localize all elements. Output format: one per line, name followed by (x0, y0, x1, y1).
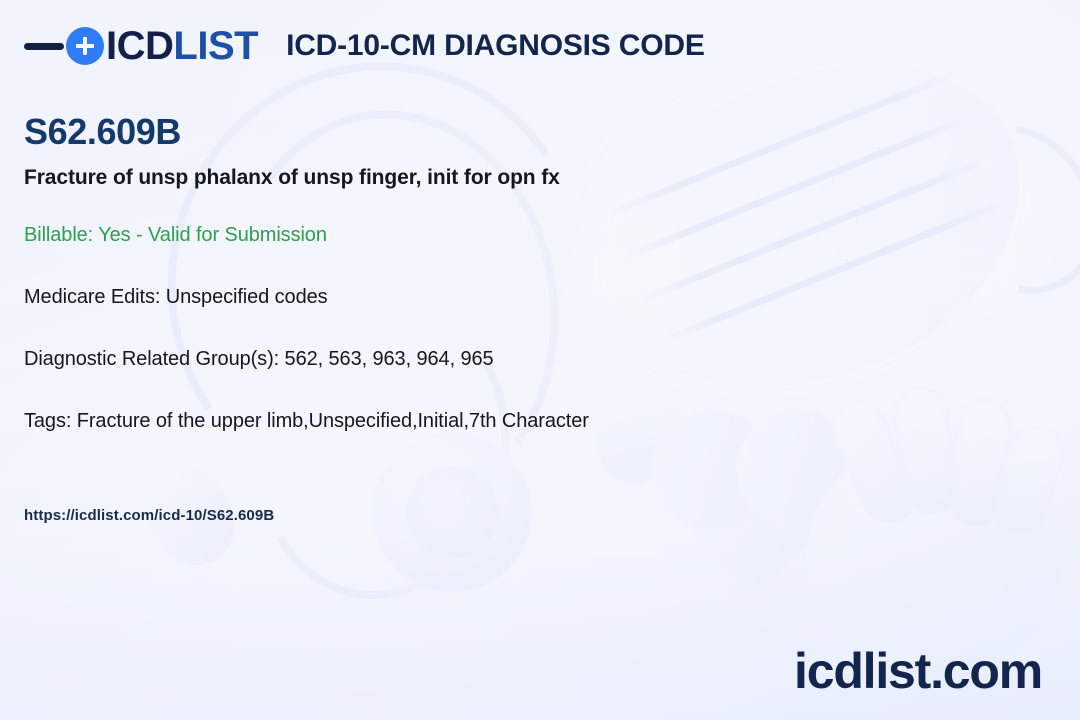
page-title: ICD-10-CM DIAGNOSIS CODE (286, 31, 705, 61)
diagnosis-description: Fracture of unsp phalanx of unsp finger,… (24, 166, 560, 190)
page-header: ICDLIST ICD-10-CM DIAGNOSIS CODE (24, 26, 705, 66)
plus-circle-icon (66, 27, 104, 65)
diagnostic-related-groups: Diagnostic Related Group(s): 562, 563, 9… (24, 348, 494, 371)
logo-text-icd: ICD (106, 24, 173, 68)
dash-icon (24, 43, 64, 50)
medicare-edits: Medicare Edits: Unspecified codes (24, 286, 328, 309)
card-content: ICDLIST ICD-10-CM DIAGNOSIS CODE S62.609… (0, 0, 1080, 720)
logo-text-list: LIST (173, 24, 258, 68)
icdlist-logo[interactable]: ICDLIST (24, 26, 258, 66)
billable-status: Billable: Yes - Valid for Submission (24, 224, 327, 247)
source-url[interactable]: https://icdlist.com/icd-10/S62.609B (24, 507, 274, 524)
tags-list: Tags: Fracture of the upper limb,Unspeci… (24, 410, 589, 433)
icd-code-card: ICDLIST ICD-10-CM DIAGNOSIS CODE S62.609… (0, 0, 1080, 720)
diagnosis-code: S62.609B (24, 112, 181, 152)
brand-watermark: icdlist.com (794, 646, 1042, 696)
